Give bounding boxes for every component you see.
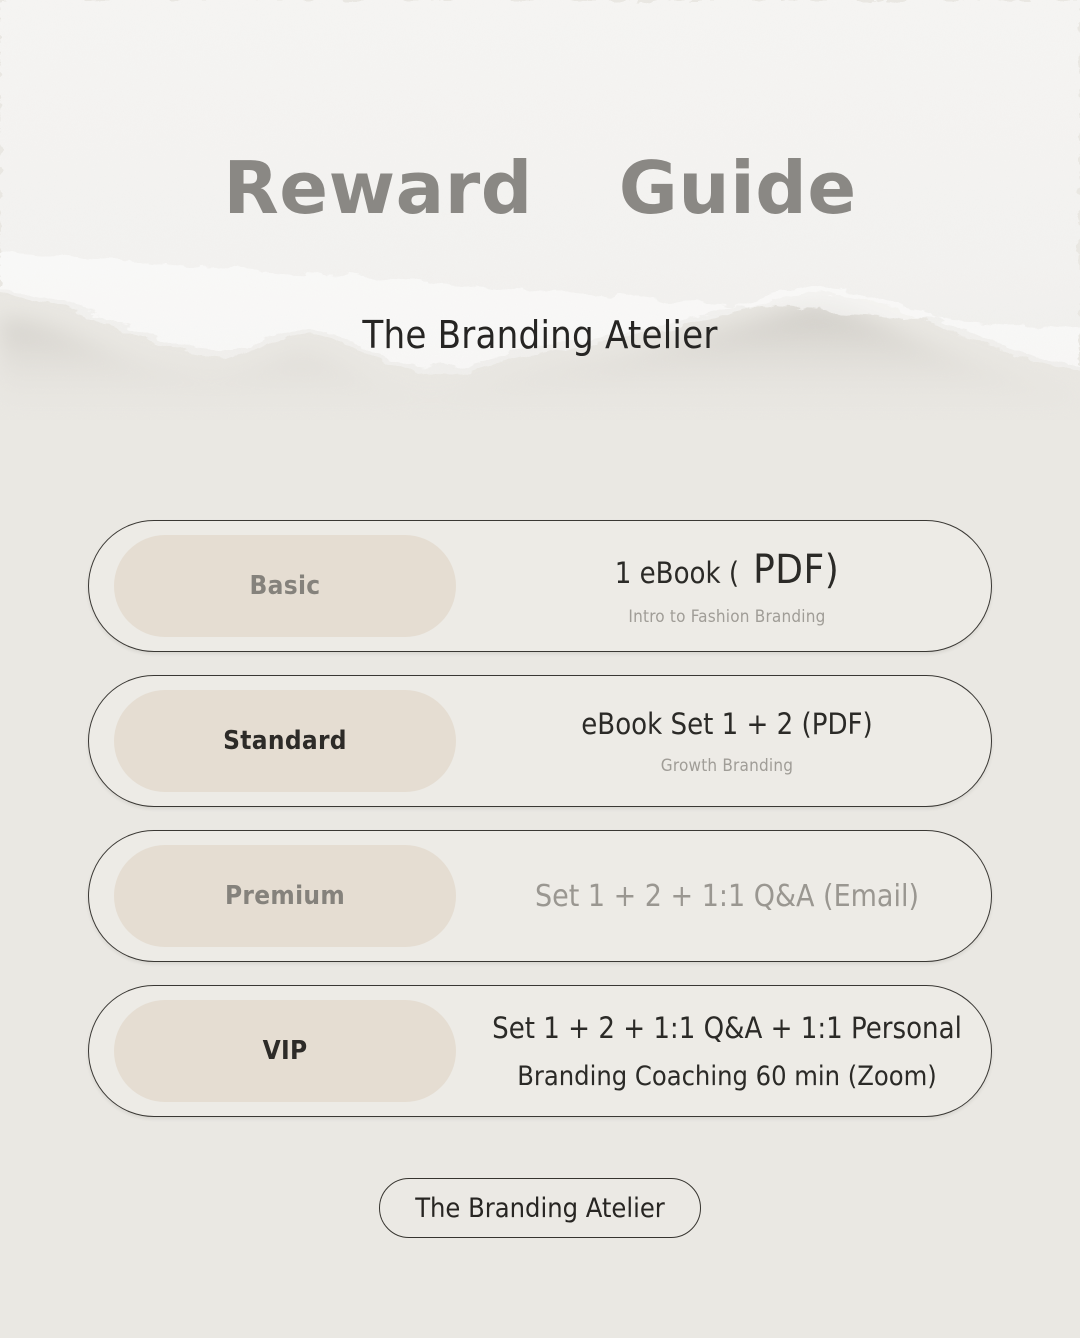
tier-detail-emphasis-basic: PDF): [739, 547, 839, 593]
tier-detail-main-standard: eBook Set 1 + 2 (PDF): [581, 708, 873, 741]
tier-card-standard[interactable]: Standard eBook Set 1 + 2 (PDF) Growth Br…: [88, 675, 992, 807]
tier-detail-main-vip: Set 1 + 2 + 1:1 Q&A + 1:1 Personal: [492, 1012, 962, 1045]
torn-paper-sheet: [0, 0, 1080, 420]
tier-detail-basic: 1 eBook (PDF) Intro to Fashion Branding: [489, 521, 965, 653]
brand-footer-button[interactable]: The Branding Atelier: [379, 1178, 701, 1238]
tier-pill-basic: Basic: [114, 535, 456, 637]
tier-detail-main-premium: Set 1 + 2 + 1:1 Q&A (Email): [535, 880, 919, 915]
tier-name-premium: Premium: [225, 881, 345, 911]
tier-detail-premium: Set 1 + 2 + 1:1 Q&A (Email): [489, 831, 965, 963]
tier-detail-prefix-basic: 1 eBook (: [615, 556, 739, 590]
tier-detail-sub-basic: Intro to Fashion Branding: [628, 607, 825, 627]
tier-detail-sub-standard: Growth Branding: [661, 756, 793, 776]
tier-name-standard: Standard: [223, 726, 347, 756]
tier-list: Basic 1 eBook (PDF) Intro to Fashion Bra…: [88, 520, 992, 1140]
tier-name-vip: VIP: [263, 1036, 308, 1066]
tier-detail-standard: eBook Set 1 + 2 (PDF) Growth Branding: [489, 676, 965, 808]
torn-paper-header: RewardGuide The Branding Atelier: [0, 0, 1080, 420]
tier-detail-vip: Set 1 + 2 + 1:1 Q&A + 1:1 Personal Brand…: [489, 986, 965, 1118]
tier-detail-line2-vip: Branding Coaching 60 min (Zoom): [517, 1061, 937, 1092]
tier-pill-standard: Standard: [114, 690, 456, 792]
tier-card-basic[interactable]: Basic 1 eBook (PDF) Intro to Fashion Bra…: [88, 520, 992, 652]
tier-detail-main-basic: 1 eBook (PDF): [615, 547, 840, 593]
tier-pill-premium: Premium: [114, 845, 456, 947]
tier-card-vip[interactable]: VIP Set 1 + 2 + 1:1 Q&A + 1:1 Personal B…: [88, 985, 992, 1117]
tier-card-premium[interactable]: Premium Set 1 + 2 + 1:1 Q&A (Email): [88, 830, 992, 962]
tier-name-basic: Basic: [250, 571, 321, 601]
tier-pill-vip: VIP: [114, 1000, 456, 1102]
